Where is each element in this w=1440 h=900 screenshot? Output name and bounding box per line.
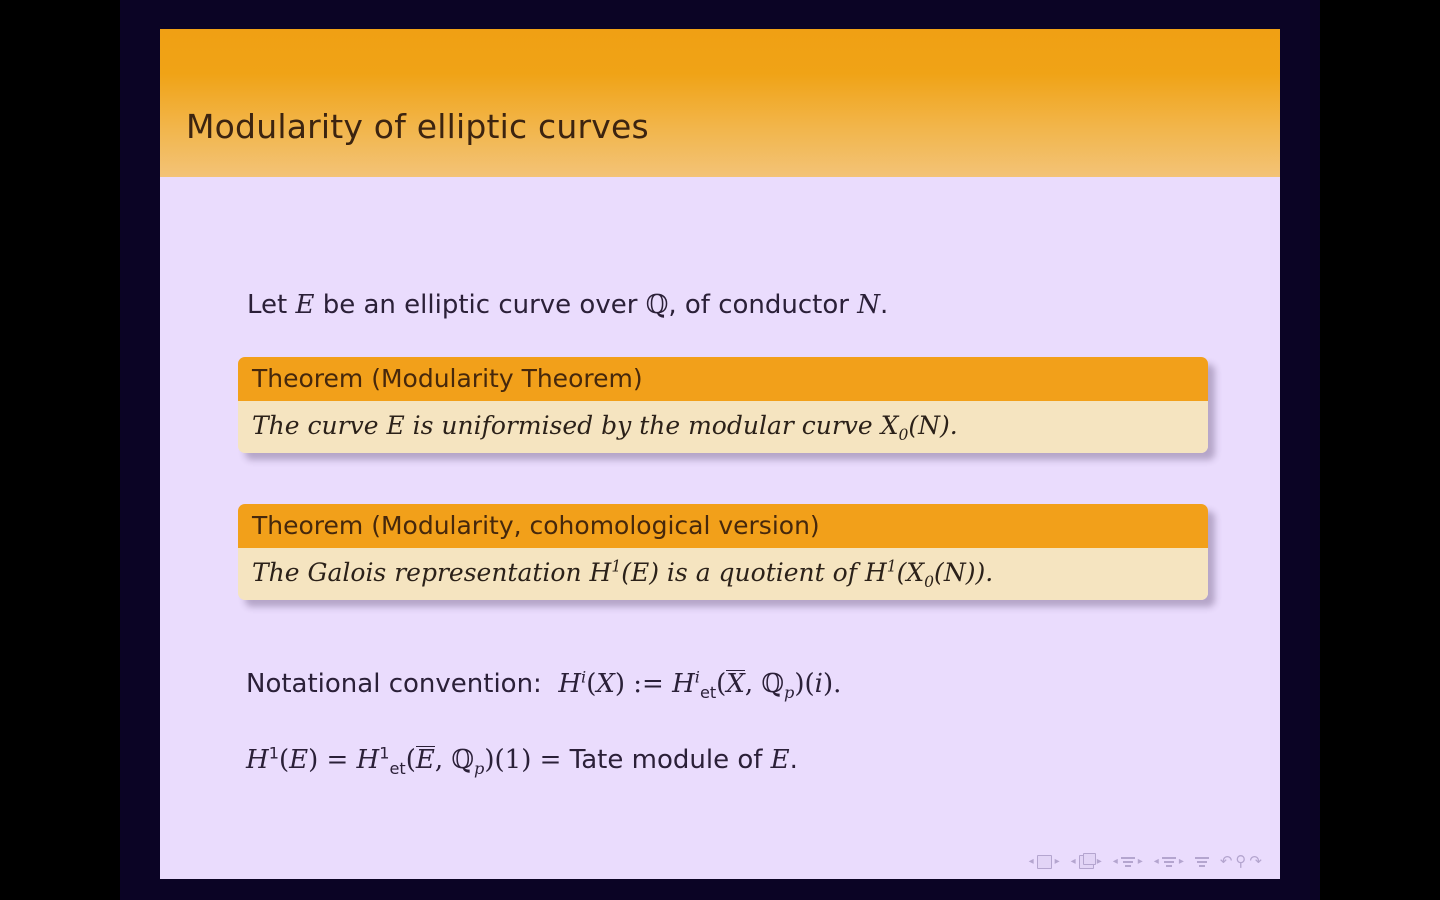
thm2-h2: H (865, 558, 887, 587)
thm2-t1: The Galois representation (252, 558, 590, 587)
slide-icon[interactable] (1037, 855, 1052, 869)
thm2-n: N (944, 558, 966, 587)
note-p4: , (745, 669, 762, 699)
thm1-n: N (918, 411, 940, 440)
tate-qp: ℚ (451, 745, 474, 775)
lead-middle: be an elliptic curve over (314, 290, 645, 320)
note-qp: ℚ (761, 669, 784, 699)
thm1-t3: ( (908, 411, 918, 440)
tate-sup1: 1 (269, 743, 279, 762)
tate-p6: . (790, 745, 798, 775)
note-p1: ( (586, 669, 596, 699)
note-p3: ( (716, 669, 726, 699)
back-arrow-icon[interactable]: ↶ (1220, 854, 1233, 869)
forward-arrow-icon[interactable]: ↷ (1249, 854, 1262, 869)
chevron-left-icon[interactable]: ◂ (1154, 857, 1159, 867)
thm2-t2: ( (621, 558, 631, 587)
note-x-bar: X (726, 670, 745, 697)
tate-p3: ( (406, 745, 416, 775)
tate-module-line: H1(E) = H1et(E, ℚp)(1) = Tate module of … (246, 745, 798, 775)
note-h: H (558, 669, 581, 699)
lead-var-n: N (857, 290, 880, 320)
tate-sub-p: p (474, 759, 484, 778)
note-sub-p: p (784, 683, 794, 702)
theorem-body: The Galois representation H1(E) is a quo… (238, 548, 1208, 600)
theorem-body: The curve E is uniformised by the modula… (238, 401, 1208, 453)
section-icon[interactable] (1162, 856, 1176, 868)
theorem-header: Theorem (Modularity, cohomological versi… (238, 504, 1208, 548)
thm2-sup1: 1 (611, 558, 621, 576)
frame-stack-icon[interactable] (1079, 855, 1094, 869)
presentation-slide: Modularity of elliptic curves Let E be a… (160, 29, 1280, 879)
thm2-t6: )). (966, 558, 993, 587)
chevron-right-icon[interactable]: ▸ (1097, 857, 1102, 867)
tate-p5: )(1) = (484, 745, 569, 775)
tate-e2: E (771, 745, 790, 775)
chevron-left-icon[interactable]: ◂ (1113, 857, 1118, 867)
thm1-x: X (881, 411, 899, 440)
lead-sentence: Let E be an elliptic curve over ℚ, of co… (247, 290, 888, 320)
note-i: i (815, 669, 823, 699)
chevron-left-icon[interactable]: ◂ (1071, 857, 1076, 867)
thm2-t3: ) is a quotient of (649, 558, 865, 587)
note-sub-et: et (700, 683, 716, 702)
subsection-nav[interactable]: ◂ ▸ (1113, 856, 1143, 868)
tate-e: E (289, 745, 308, 775)
note-p2: ) := (615, 669, 672, 699)
note-p5: )( (794, 669, 814, 699)
tate-p1: ( (279, 745, 289, 775)
lead-suffix: , of conductor (668, 290, 857, 320)
thm2-sub0: 0 (924, 573, 934, 591)
thm2-x: X (906, 558, 924, 587)
thm1-t1: The curve (252, 411, 386, 440)
lead-var-e: E (295, 290, 314, 320)
thm1-e: E (386, 411, 404, 440)
notation-label: Notational convention: (246, 669, 542, 699)
section-nav[interactable]: ◂ ▸ (1154, 856, 1184, 868)
theorem-block-modularity: Theorem (Modularity Theorem) The curve E… (238, 357, 1208, 453)
note-x: X (596, 669, 615, 699)
thm1-t4: ). (940, 411, 958, 440)
slide-title: Modularity of elliptic curves (186, 107, 649, 146)
tate-h2: H (357, 745, 380, 775)
tate-tail: Tate module of (570, 745, 771, 775)
thm1-t2: is uniformised by the modular curve (405, 411, 881, 440)
theorem-block-cohomological: Theorem (Modularity, cohomological versi… (238, 504, 1208, 600)
tate-sup1b: 1 (379, 743, 389, 762)
screenshot-root: Modularity of elliptic curves Let E be a… (0, 0, 1440, 900)
thm2-sup1b: 1 (887, 558, 897, 576)
chevron-right-icon[interactable]: ▸ (1055, 857, 1060, 867)
document-icon[interactable] (1195, 856, 1209, 868)
doc-nav[interactable] (1195, 856, 1209, 868)
tate-h: H (246, 745, 269, 775)
tate-e-bar: E (416, 746, 435, 773)
back-nav[interactable]: ↶ ⚲ ↷ (1220, 854, 1262, 869)
slide-title-bar: Modularity of elliptic curves (160, 29, 1280, 177)
slide-body: Let E be an elliptic curve over ℚ, of co… (160, 177, 1280, 879)
note-h2: H (672, 669, 695, 699)
chevron-right-icon[interactable]: ▸ (1138, 857, 1143, 867)
lead-prefix: Let (247, 290, 295, 320)
beamer-navigation-bar[interactable]: ◂ ▸ ◂ ▸ ◂ ▸ ◂ ▸ (1029, 854, 1262, 869)
thm2-t4: ( (897, 558, 907, 587)
lead-field-q: ℚ (646, 290, 669, 320)
lead-period: . (880, 290, 888, 320)
tate-sub-et: et (389, 759, 405, 778)
tate-p2: ) = (308, 745, 356, 775)
notational-convention-line: Notational convention: Hi(X) := Hiet(X, … (246, 669, 841, 699)
thm2-e: E (631, 558, 649, 587)
theorem-header: Theorem (Modularity Theorem) (238, 357, 1208, 401)
thm1-sub0: 0 (899, 426, 909, 444)
search-icon[interactable]: ⚲ (1235, 854, 1246, 869)
frame-nav[interactable]: ◂ ▸ (1071, 855, 1102, 869)
subsection-icon[interactable] (1121, 856, 1135, 868)
tate-p4: , (435, 745, 452, 775)
slide-nav[interactable]: ◂ ▸ (1029, 855, 1060, 869)
note-p6: ). (823, 669, 841, 699)
thm2-t5: ( (934, 558, 944, 587)
chevron-left-icon[interactable]: ◂ (1029, 857, 1034, 867)
thm2-h: H (590, 558, 612, 587)
chevron-right-icon[interactable]: ▸ (1179, 857, 1184, 867)
